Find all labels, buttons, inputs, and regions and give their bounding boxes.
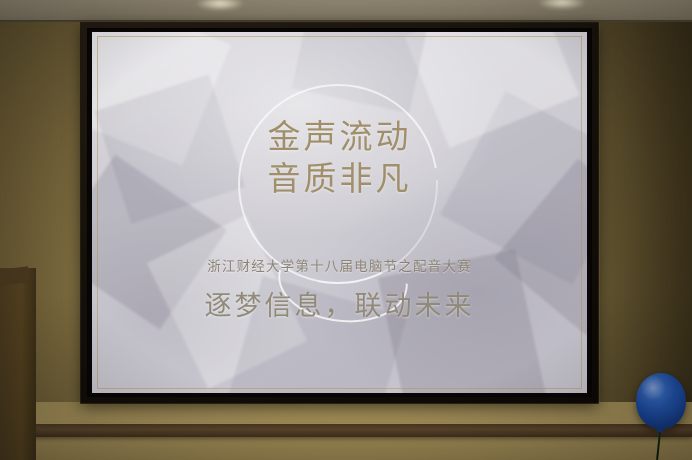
slide-subtitle-block: 浙江财经大学第十八届电脑节之配音大赛 逐梦信息，联动未来 — [92, 258, 587, 324]
slide-event-name: 浙江财经大学第十八届电脑节之配音大赛 — [92, 258, 587, 276]
slide-title-line-2: 音质非凡 — [92, 158, 587, 200]
pillar-left — [0, 268, 36, 460]
slide-title-block: 金声流动 音质非凡 — [92, 116, 587, 200]
slide-tagline: 逐梦信息，联动未来 — [92, 290, 587, 324]
wall-right-shadow — [600, 22, 692, 404]
photo-scene: 金声流动 音质非凡 浙江财经大学第十八届电脑节之配音大赛 逐梦信息，联动未来 — [0, 0, 692, 460]
chair-rail — [0, 424, 692, 437]
slide-title-line-1: 金声流动 — [92, 116, 587, 158]
pillar-left-cap — [0, 266, 28, 285]
projected-slide: 金声流动 音质非凡 浙江财经大学第十八届电脑节之配音大赛 逐梦信息，联动未来 — [92, 32, 587, 393]
balloon — [636, 373, 686, 429]
